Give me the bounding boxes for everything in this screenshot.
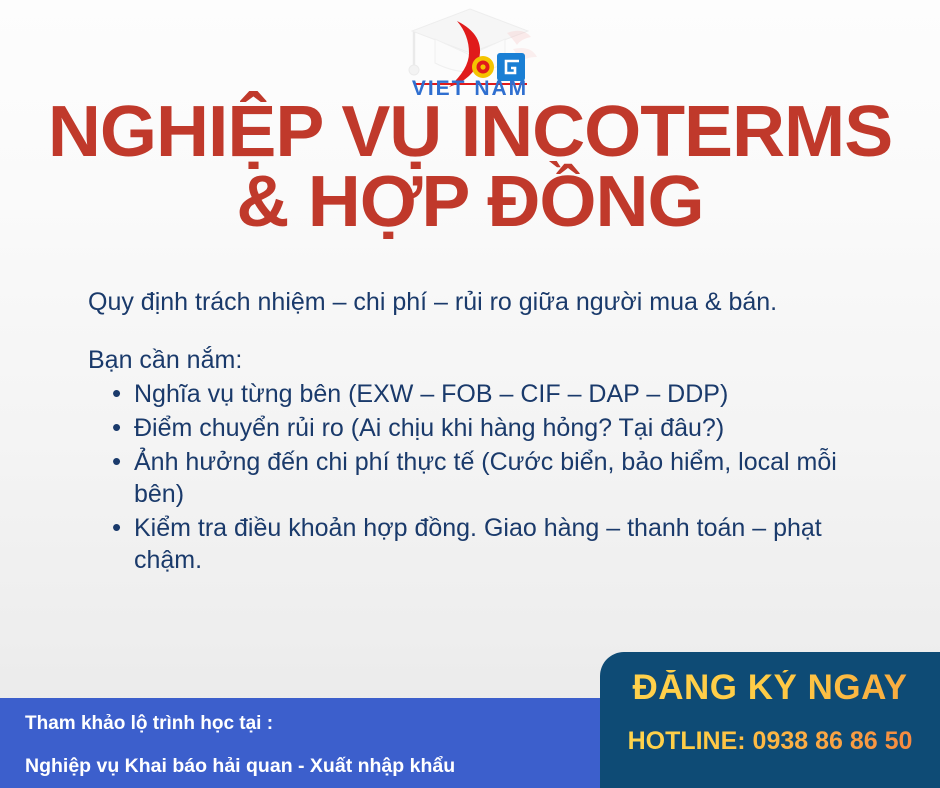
intro-text: Quy định trách nhiệm – chi phí – rủi ro … — [88, 286, 880, 318]
yellow-red-circle-icon — [472, 56, 494, 78]
list-item: Nghĩa vụ từng bên (EXW – FOB – CIF – DAP… — [110, 378, 880, 410]
footer-course-name: Nghiệp vụ Khai báo hải quan - Xuất nhập … — [25, 757, 601, 777]
logo-mark: VIET NAM — [395, 5, 545, 101]
bullet-list: Nghĩa vụ từng bên (EXW – FOB – CIF – DAP… — [88, 378, 880, 576]
footer-label: Tham khảo lộ trình học tại : — [25, 714, 601, 733]
cue-text: Bạn cần nắm: — [88, 344, 880, 376]
list-item: Điểm chuyển rủi ro (Ai chịu khi hàng hỏn… — [110, 412, 880, 444]
content-block: Quy định trách nhiệm – chi phí – rủi ro … — [88, 286, 880, 578]
page-title-line-1: NGHIỆP VỤ INCOTERMS — [0, 98, 940, 168]
footer-reference-bar: Tham khảo lộ trình học tại : Nghiệp vụ K… — [0, 698, 601, 788]
page-title: NGHIỆP VỤ INCOTERMS & HỢP ĐỒNG — [0, 98, 940, 238]
list-item: Kiểm tra điều khoản hợp đồng. Giao hàng … — [110, 512, 880, 576]
page-title-line-2: & HỢP ĐỒNG — [0, 168, 940, 238]
cta-hotline-label[interactable]: HOTLINE: 0938 86 86 50 — [600, 729, 940, 754]
list-item: Ảnh hưởng đến chi phí thực tế (Cước biển… — [110, 446, 880, 510]
logo-block: VIET NAM — [0, 4, 940, 102]
cta-panel[interactable]: ĐĂNG KÝ NGAY HOTLINE: 0938 86 86 50 — [600, 652, 940, 788]
cta-register-label[interactable]: ĐĂNG KÝ NGAY — [600, 670, 940, 705]
